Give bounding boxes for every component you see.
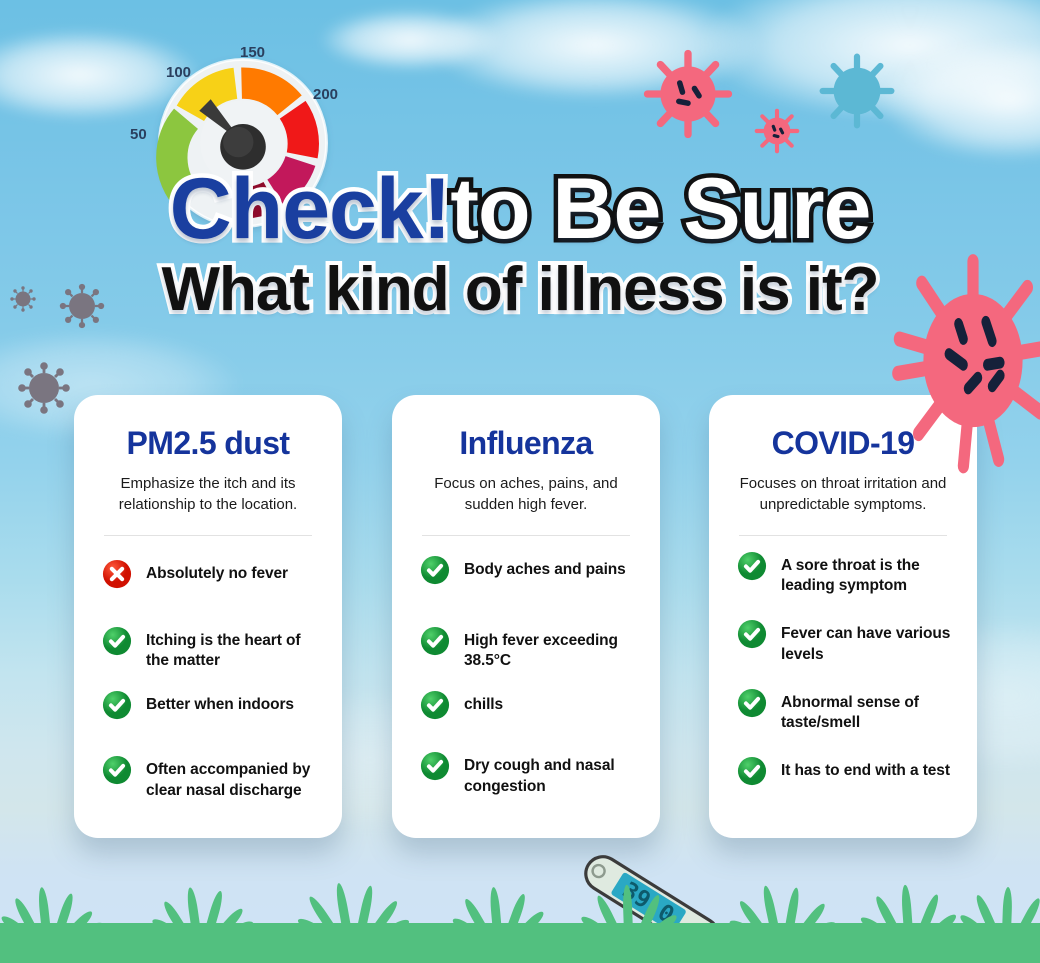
list-item-label: chills xyxy=(464,693,503,715)
list-item-label: Body aches and pains xyxy=(464,558,626,580)
card-divider xyxy=(422,535,630,536)
check-icon xyxy=(737,551,767,581)
comparison-cards: PM2.5 dust Emphasize the itch and its re… xyxy=(0,395,1040,840)
check-icon xyxy=(737,619,767,649)
headline-block: Check!to Be Sure What kind of illness is… xyxy=(0,168,1040,321)
card-pm25-dust[interactable]: PM2.5 dust Emphasize the itch and its re… xyxy=(74,395,342,838)
card-title: Influenza xyxy=(416,427,636,461)
list-item-label: A sore throat is the leading symptom xyxy=(781,554,953,596)
cross-icon xyxy=(102,559,132,589)
list-item: Abnormal sense of taste/smell xyxy=(733,691,953,733)
card-influenza[interactable]: Influenza Focus on aches, pains, and sud… xyxy=(392,395,660,838)
headline-line-1: Check!to Be Sure xyxy=(0,168,1040,251)
list-item: Better when indoors xyxy=(98,693,318,720)
list-item: Absolutely no fever xyxy=(98,562,318,589)
infographic-poster: 50 100 150 200 xyxy=(0,0,1040,963)
list-item-label: Fever can have various levels xyxy=(781,622,953,664)
list-item-label: Absolutely no fever xyxy=(146,562,288,584)
card-title: PM2.5 dust xyxy=(98,427,318,461)
virus-blue-icon xyxy=(818,52,896,130)
gauge-tick-50: 50 xyxy=(130,126,147,143)
card-subtitle: Focus on aches, pains, and sudden high f… xyxy=(416,473,636,516)
list-item-label: It has to end with a test xyxy=(781,759,950,781)
gauge-tick-200: 200 xyxy=(313,86,338,103)
list-item: Itching is the heart of the matter xyxy=(98,629,318,671)
virus-pink-large-icon xyxy=(893,253,1040,468)
list-item-label: Dry cough and nasal congestion xyxy=(464,754,636,796)
list-item: Body aches and pains xyxy=(416,558,636,585)
symptom-list: A sore throat is the leading symptom Fev… xyxy=(733,554,953,786)
check-icon xyxy=(737,756,767,786)
list-item: Dry cough and nasal congestion xyxy=(416,754,636,796)
gauge-tick-100: 100 xyxy=(166,64,191,81)
check-icon xyxy=(102,626,132,656)
check-icon xyxy=(102,755,132,785)
list-item-label: Better when indoors xyxy=(146,693,294,715)
headline-line-2: What kind of illness is it? xyxy=(0,259,1040,321)
check-icon xyxy=(737,688,767,718)
list-item: chills xyxy=(416,693,636,720)
check-icon xyxy=(420,751,450,781)
virus-pink-icon xyxy=(642,48,734,140)
list-item-label: Itching is the heart of the matter xyxy=(146,629,318,671)
list-item-label: High fever exceeding 38.5°C xyxy=(464,629,636,671)
list-item: High fever exceeding 38.5°C xyxy=(416,629,636,671)
grass-band xyxy=(0,923,1040,963)
check-icon xyxy=(420,555,450,585)
list-item: It has to end with a test xyxy=(733,759,953,786)
virus-pink-small-icon xyxy=(754,108,800,154)
gauge-tick-150: 150 xyxy=(240,44,265,61)
check-icon xyxy=(420,626,450,656)
symptom-list: Body aches and pains High fever exceedin… xyxy=(416,558,636,797)
card-subtitle: Focuses on throat irritation and unpredi… xyxy=(733,473,953,516)
card-divider xyxy=(104,535,312,536)
check-icon xyxy=(420,690,450,720)
list-item: Often accompanied by clear nasal dischar… xyxy=(98,758,318,800)
headline-rest: to Be Sure xyxy=(450,161,870,257)
check-icon xyxy=(102,690,132,720)
card-subtitle: Emphasize the itch and its relationship … xyxy=(98,473,318,516)
symptom-list: Absolutely no fever Itching is the heart… xyxy=(98,562,318,801)
card-divider xyxy=(739,535,947,536)
list-item: A sore throat is the leading symptom xyxy=(733,554,953,596)
list-item: Fever can have various levels xyxy=(733,622,953,664)
headline-emphasis: Check! xyxy=(170,161,451,257)
list-item-label: Often accompanied by clear nasal dischar… xyxy=(146,758,318,800)
list-item-label: Abnormal sense of taste/smell xyxy=(781,691,953,733)
